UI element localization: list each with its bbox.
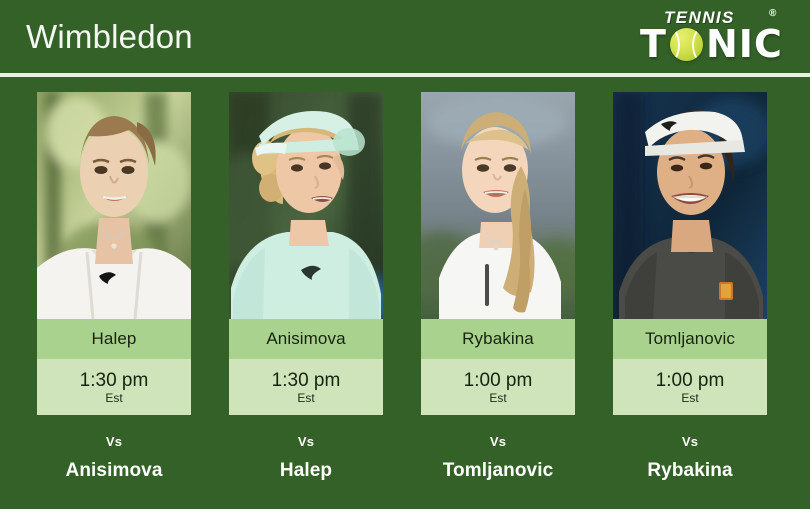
player-photo bbox=[229, 92, 383, 319]
match-card-list: Halep 1:30 pm Est Vs Anisimova bbox=[0, 77, 810, 509]
player-name-band: Halep bbox=[37, 319, 191, 359]
player-name-band: Anisimova bbox=[229, 319, 383, 359]
opponent-name: Halep bbox=[229, 459, 383, 483]
match-time: 1:30 pm bbox=[80, 370, 149, 392]
player-name-band: Tomljanovic bbox=[613, 319, 767, 359]
vs-label: Vs bbox=[421, 434, 575, 450]
match-timezone: Est bbox=[105, 391, 122, 405]
logo-letters-nic: NIC bbox=[706, 24, 783, 64]
player-photo-halep bbox=[37, 92, 191, 319]
match-timezone: Est bbox=[297, 391, 314, 405]
player-photo-anisimova bbox=[229, 92, 383, 319]
opponent-block: Vs Halep bbox=[229, 434, 383, 483]
player-name: Rybakina bbox=[462, 329, 534, 349]
match-time: 1:30 pm bbox=[272, 370, 341, 392]
player-photo-tomljanovic bbox=[613, 92, 767, 319]
match-time-band: 1:00 pm Est bbox=[613, 359, 767, 415]
opponent-name: Tomljanovic bbox=[421, 459, 575, 483]
opponent-block: Vs Tomljanovic bbox=[421, 434, 575, 483]
registered-trademark-icon: ® bbox=[769, 8, 776, 19]
opponent-name: Anisimova bbox=[37, 459, 191, 483]
opponent-block: Vs Anisimova bbox=[37, 434, 191, 483]
header-bar: Wimbledon TENNIS ® T NIC bbox=[0, 0, 810, 73]
player-photo bbox=[37, 92, 191, 319]
vs-label: Vs bbox=[613, 434, 767, 450]
match-time-band: 1:30 pm Est bbox=[229, 359, 383, 415]
match-timezone: Est bbox=[681, 391, 698, 405]
player-name: Anisimova bbox=[266, 329, 345, 349]
player-photo bbox=[613, 92, 767, 319]
match-card[interactable]: Rybakina 1:00 pm Est Vs Tomljanovic bbox=[421, 92, 575, 483]
match-time-band: 1:00 pm Est bbox=[421, 359, 575, 415]
match-time: 1:00 pm bbox=[656, 370, 725, 392]
logo-letter-t: T bbox=[640, 24, 667, 64]
ball-seam-left bbox=[670, 28, 680, 61]
match-timezone: Est bbox=[489, 391, 506, 405]
ball-seam-right bbox=[692, 28, 703, 61]
logo-word-tonic: T NIC bbox=[638, 24, 798, 64]
player-photo-rybakina bbox=[421, 92, 575, 319]
player-name-band: Rybakina bbox=[421, 319, 575, 359]
tennis-ball-icon bbox=[670, 28, 703, 61]
player-name: Halep bbox=[92, 329, 137, 349]
match-card[interactable]: Halep 1:30 pm Est Vs Anisimova bbox=[37, 92, 191, 483]
page-title: Wimbledon bbox=[26, 18, 193, 56]
vs-label: Vs bbox=[229, 434, 383, 450]
opponent-block: Vs Rybakina bbox=[613, 434, 767, 483]
match-time: 1:00 pm bbox=[464, 370, 533, 392]
match-time-band: 1:30 pm Est bbox=[37, 359, 191, 415]
player-photo bbox=[421, 92, 575, 319]
tennis-tonic-logo[interactable]: TENNIS ® T NIC bbox=[638, 6, 798, 66]
opponent-name: Rybakina bbox=[613, 459, 767, 483]
player-name: Tomljanovic bbox=[645, 329, 735, 349]
match-card[interactable]: Anisimova 1:30 pm Est Vs Halep bbox=[229, 92, 383, 483]
match-preview-graphic: Wimbledon TENNIS ® T NIC bbox=[0, 0, 810, 509]
vs-label: Vs bbox=[37, 434, 191, 450]
match-card[interactable]: Tomljanovic 1:00 pm Est Vs Rybakina bbox=[613, 92, 767, 483]
